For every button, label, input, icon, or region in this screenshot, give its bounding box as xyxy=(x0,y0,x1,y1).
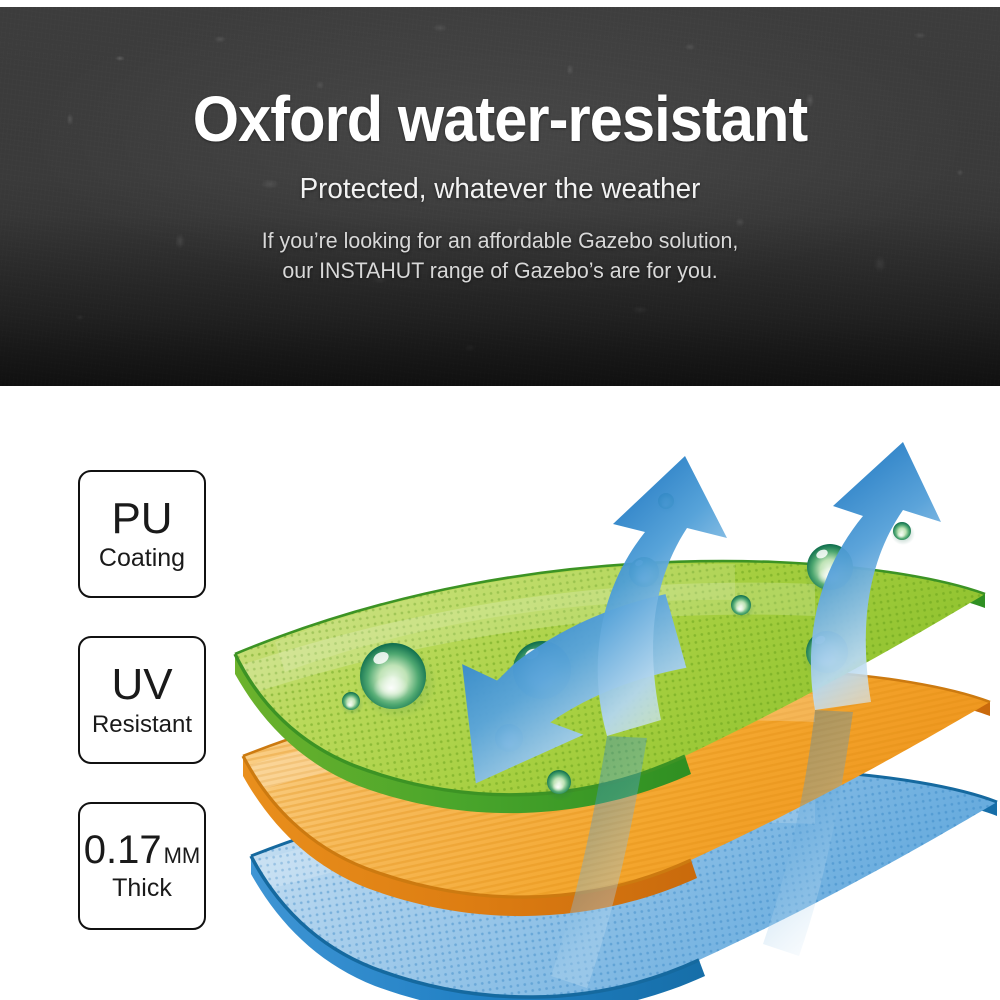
hero-description-line-1: If you’re looking for an affordable Gaze… xyxy=(15,226,985,256)
badge-pu-coating: PU Coating xyxy=(78,470,206,598)
badge-pu-subtitle: Coating xyxy=(99,546,185,571)
feature-section: PU Coating UV Resistant 0.17MM Thick xyxy=(0,386,1000,1000)
top-white-strip xyxy=(0,0,1000,7)
product-infographic: Oxford water-resistant Protected, whatev… xyxy=(0,0,1000,1000)
badge-uv-title: UV xyxy=(111,663,172,706)
page-title: Oxford water-resistant xyxy=(35,5,965,151)
badge-thickness-unit: MM xyxy=(164,845,201,867)
badge-thickness-title: 0.17MM xyxy=(84,831,201,870)
water-droplet xyxy=(891,522,915,545)
hero-subtitle: Protected, whatever the weather xyxy=(20,151,980,204)
feature-badge-list: PU Coating UV Resistant 0.17MM Thick xyxy=(78,470,210,968)
fabric-layers-diagram xyxy=(215,404,1000,1000)
badge-uv-subtitle: Resistant xyxy=(92,713,192,737)
badge-pu-title: PU xyxy=(111,497,172,540)
hero-description-line-2: our INSTAHUT range of Gazebo’s are for y… xyxy=(15,256,985,286)
hero-text-block: Oxford water-resistant Protected, whatev… xyxy=(0,5,1000,287)
badge-thickness-subtitle: Thick xyxy=(112,876,172,901)
badge-thickness-value: 0.17 xyxy=(84,831,162,870)
badge-thickness: 0.17MM Thick xyxy=(78,802,206,930)
hero-header: Oxford water-resistant Protected, whatev… xyxy=(0,5,1000,386)
hero-description: If you’re looking for an affordable Gaze… xyxy=(15,204,985,287)
badge-uv-resistant: UV Resistant xyxy=(78,636,206,764)
